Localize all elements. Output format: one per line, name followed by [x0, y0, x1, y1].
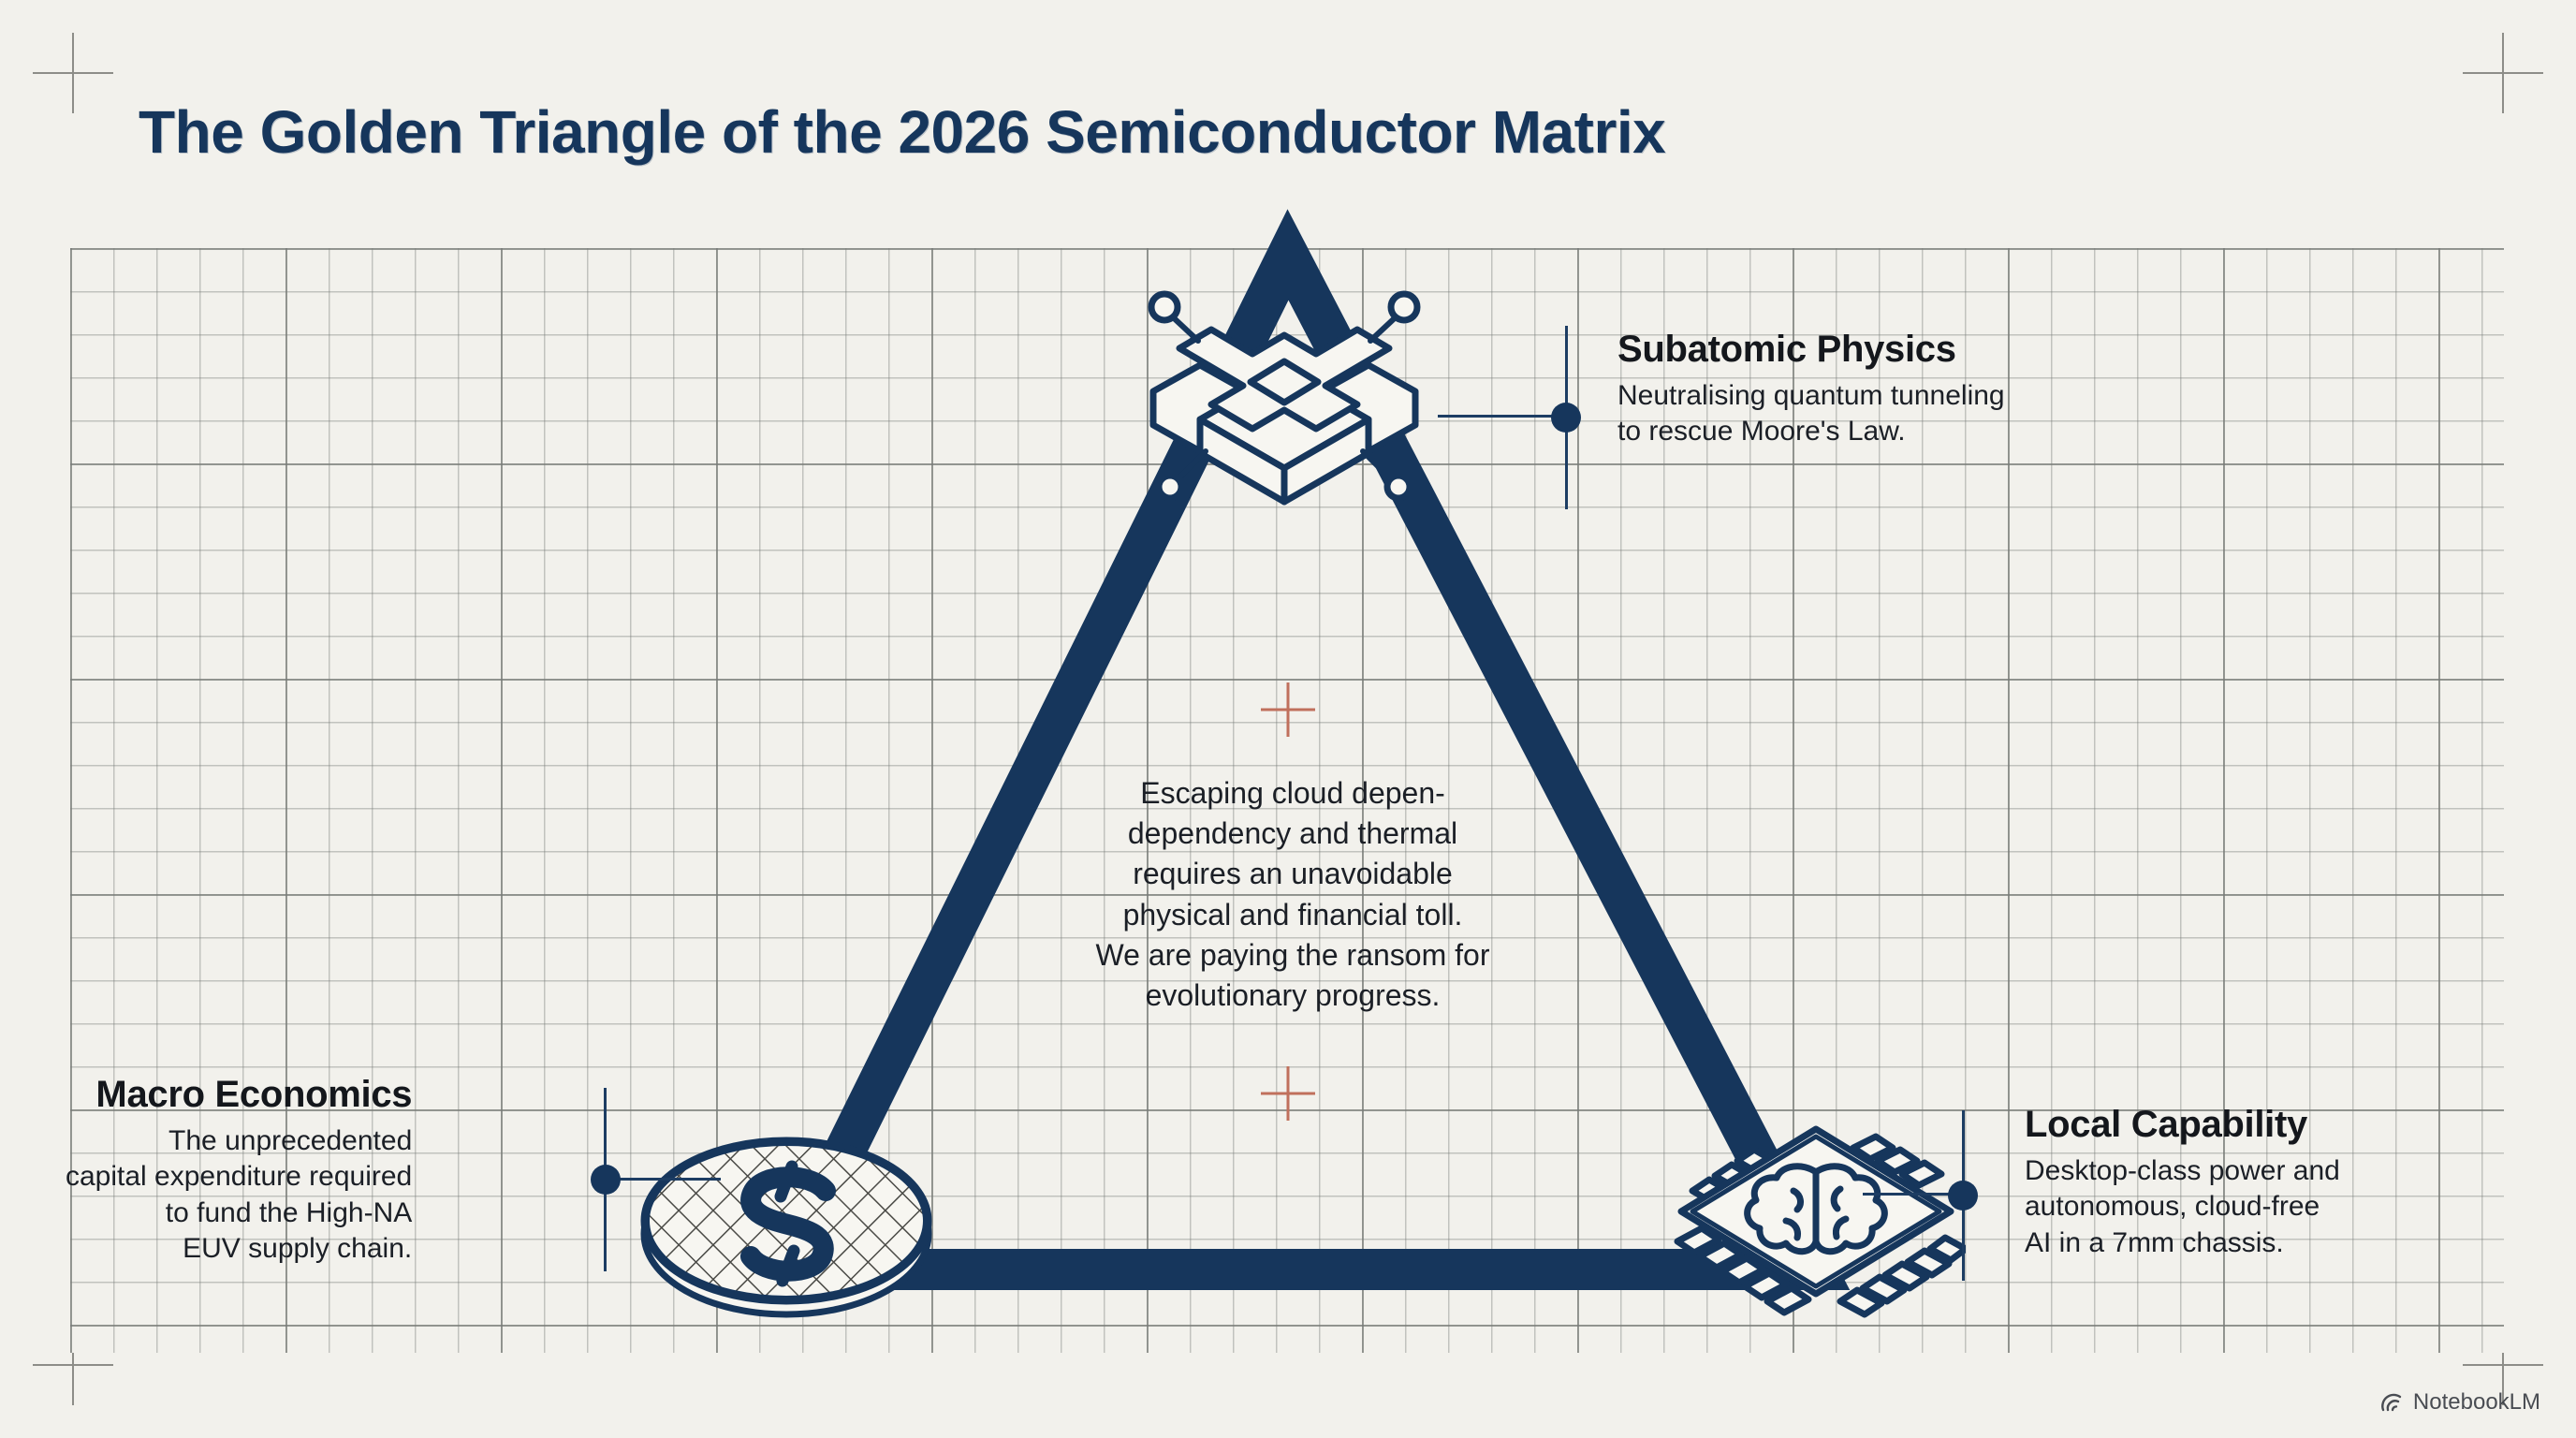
brain-chip-icon: [1666, 1114, 1966, 1320]
callout-body-line: to fund the High-NA: [66, 1196, 412, 1231]
center-annotation-line: physical and financial toll.: [1031, 895, 1555, 935]
page-title: The Golden Triangle of the 2026 Semicond…: [139, 97, 1665, 167]
crystal-lattice-cube-icon: [1144, 251, 1425, 513]
crop-mark-top-left: [33, 33, 113, 113]
crop-mark-top-right: [2463, 33, 2543, 113]
center-annotation: Escaping cloud depen- dependency and the…: [1031, 773, 1555, 1016]
callout-body-line: AI in a 7mm chassis.: [2025, 1225, 2340, 1261]
center-annotation-line: We are paying the ransom for: [1031, 935, 1555, 976]
callout-body-line: Desktop-class power and: [2025, 1153, 2340, 1189]
center-annotation-line: dependency and thermal: [1031, 814, 1555, 854]
leader-line-physics: [1438, 415, 1569, 418]
silicon-wafer-dollar-icon: [627, 1123, 945, 1329]
callout-local-capability[interactable]: Local Capability Desktop-class power and…: [2025, 1105, 2340, 1261]
callout-body-line: to rescue Moore's Law.: [1617, 414, 2005, 449]
callout-heading-macro: Macro Economics: [66, 1075, 412, 1114]
callout-macro-economics[interactable]: Macro Economics The unprecedented capita…: [66, 1075, 412, 1268]
callout-body-line: capital expenditure required: [66, 1159, 412, 1195]
vertex-node-subatomic-physics[interactable]: [1144, 251, 1425, 513]
vertex-node-macro-economics[interactable]: [627, 1123, 945, 1329]
leader-dot-macro: [591, 1165, 621, 1195]
leader-line-macro: [618, 1178, 721, 1181]
watermark-label: NotebookLM: [2413, 1389, 2540, 1416]
center-annotation-line: Escaping cloud depen-: [1031, 773, 1555, 814]
leader-dot-local: [1948, 1181, 1978, 1211]
callout-body-line: The unprecedented: [66, 1123, 412, 1159]
callout-subatomic-physics[interactable]: Subatomic Physics Neutralising quantum t…: [1617, 330, 2005, 450]
notebooklm-watermark: NotebookLM: [2380, 1389, 2540, 1416]
callout-body-line: autonomous, cloud-free: [2025, 1189, 2340, 1225]
callout-body-line: Neutralising quantum tunneling: [1617, 378, 2005, 414]
notebooklm-logo-icon: [2380, 1390, 2405, 1415]
callout-body-macro: The unprecedented capital expenditure re…: [66, 1123, 412, 1268]
center-annotation-line: evolutionary progress.: [1031, 976, 1555, 1016]
center-annotation-line: requires an unavoidable: [1031, 854, 1555, 894]
callout-body-local: Desktop-class power and autonomous, clou…: [2025, 1153, 2340, 1261]
callout-heading-local: Local Capability: [2025, 1105, 2340, 1144]
callout-body-physics: Neutralising quantum tunneling to rescue…: [1617, 378, 2005, 450]
callout-body-line: EUV supply chain.: [66, 1231, 412, 1267]
vertex-node-local-capability[interactable]: [1666, 1114, 1966, 1320]
infographic-canvas: The Golden Triangle of the 2026 Semicond…: [0, 0, 2576, 1438]
leader-dot-physics: [1551, 403, 1581, 433]
callout-heading-physics: Subatomic Physics: [1617, 330, 2005, 369]
